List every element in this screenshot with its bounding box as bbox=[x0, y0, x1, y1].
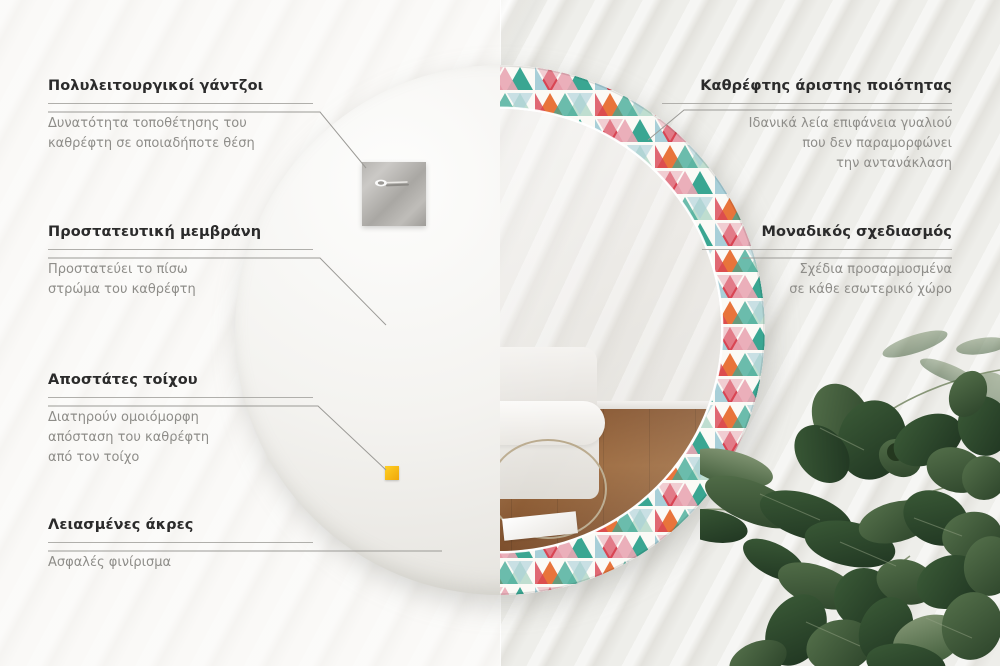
callout-design-title: Μοναδικός σχεδιασμός bbox=[702, 224, 952, 240]
callout-edges-rule bbox=[48, 542, 313, 543]
callout-quality-rule bbox=[662, 103, 952, 104]
callout-quality-title: Καθρέφτης άριστης ποιότητας bbox=[662, 78, 952, 94]
callout-hooks-title: Πολυλειτουργικοί γάντζοι bbox=[48, 78, 313, 94]
reflected-side-table bbox=[489, 439, 609, 549]
callout-membrane: Προστατευτική μεμβράνη Προστατεύει το πί… bbox=[48, 224, 313, 300]
callout-hooks-body: Δυνατότητα τοποθέτησης του καθρέφτη σε ο… bbox=[48, 114, 313, 154]
callout-edges-body: Ασφαλές φινίρισμα bbox=[48, 553, 313, 573]
hook-slot-icon bbox=[374, 178, 414, 188]
callout-quality: Καθρέφτης άριστης ποιότητας Ιδανικά λεία… bbox=[662, 78, 952, 174]
callout-membrane-body: Προστατεύει το πίσω στρώμα του καθρέφτη bbox=[48, 260, 313, 300]
wall-spacer-marker bbox=[385, 466, 399, 480]
callout-spacers-rule bbox=[48, 397, 313, 398]
callout-membrane-rule bbox=[48, 249, 313, 250]
callout-hooks-rule bbox=[48, 103, 313, 104]
decorative-plant bbox=[700, 330, 1000, 666]
callout-hooks: Πολυλειτουργικοί γάντζοι Δυνατότητα τοπο… bbox=[48, 78, 313, 154]
callout-edges: Λειασμένες άκρες Ασφαλές φινίρισμα bbox=[48, 517, 313, 573]
callout-quality-body: Ιδανικά λεία επιφάνεια γυαλιού που δεν π… bbox=[662, 114, 952, 174]
callout-spacers-body: Διατηρούν ομοιόμορφη απόσταση του καθρέφ… bbox=[48, 408, 313, 468]
callout-edges-title: Λειασμένες άκρες bbox=[48, 517, 313, 533]
callout-design: Μοναδικός σχεδιασμός Σχέδια προσαρμοσμέν… bbox=[702, 224, 952, 300]
callout-design-rule bbox=[702, 249, 952, 250]
infographic-canvas: Πολυλειτουργικοί γάντζοι Δυνατότητα τοπο… bbox=[0, 0, 1000, 666]
callout-spacers-title: Αποστάτες τοίχου bbox=[48, 372, 313, 388]
reflected-throw-fringe bbox=[279, 483, 283, 519]
callout-membrane-title: Προστατευτική μεμβράνη bbox=[48, 224, 313, 240]
callout-spacers: Αποστάτες τοίχου Διατηρούν ομοιόμορφη απ… bbox=[48, 372, 313, 468]
callout-design-body: Σχέδια προσαρμοσμένα σε κάθε εσωτερικό χ… bbox=[702, 260, 952, 300]
hook-mounting-plate bbox=[362, 162, 426, 226]
